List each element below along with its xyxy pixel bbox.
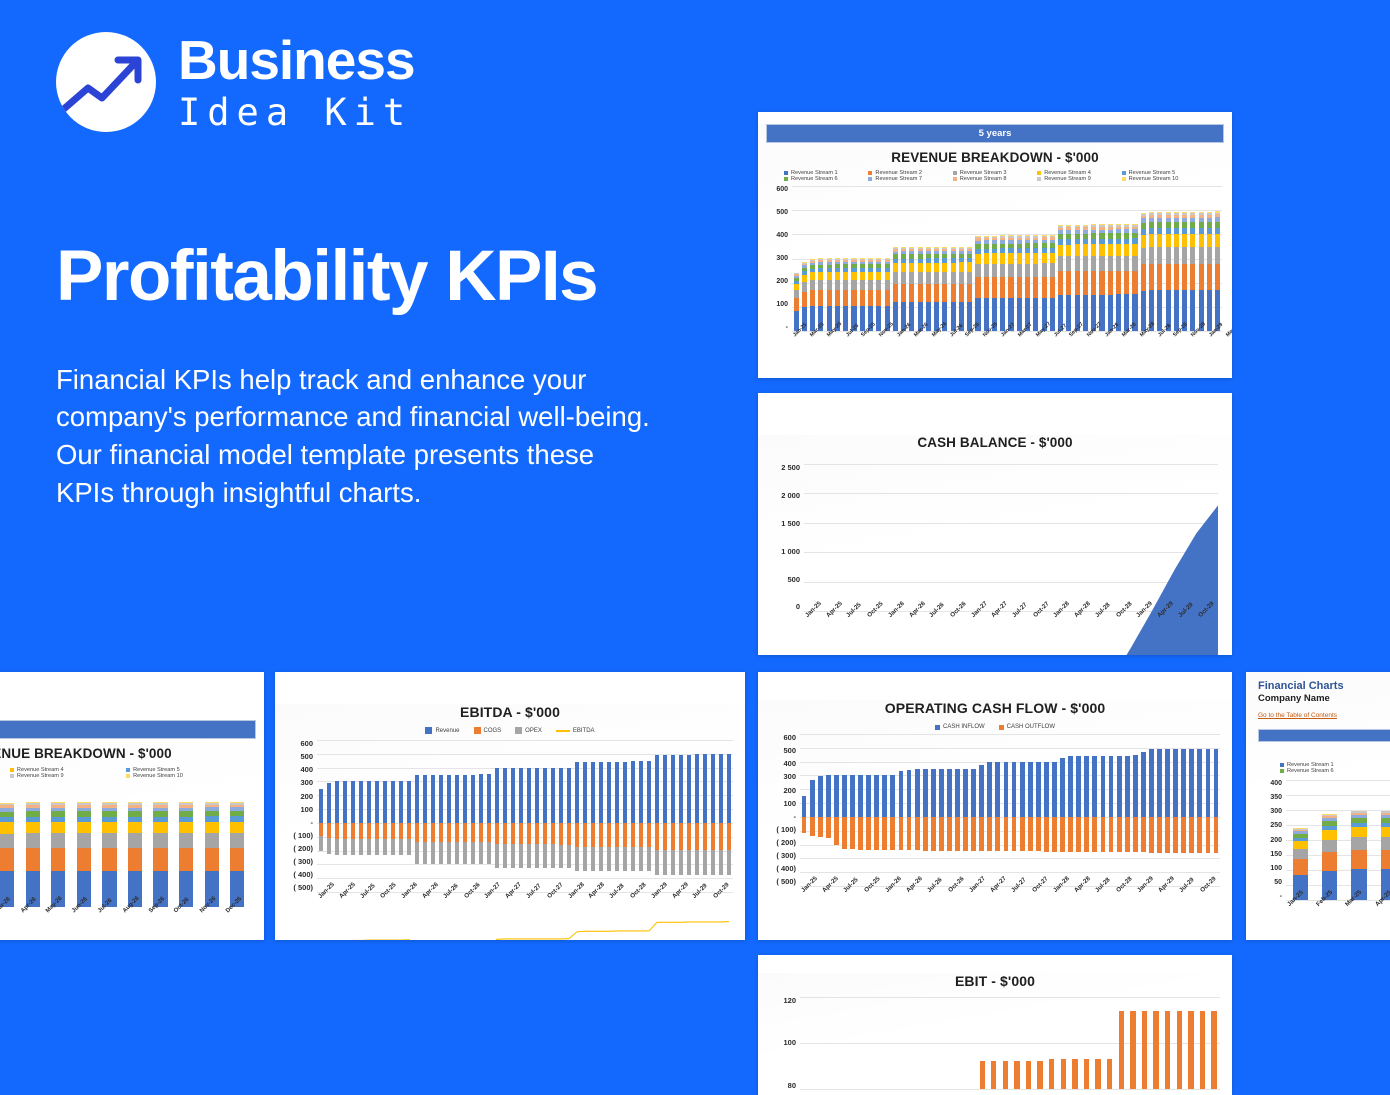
bar-segment <box>1083 271 1088 295</box>
bar-segment <box>835 290 840 306</box>
bar-column <box>225 789 251 907</box>
bar-segment <box>1000 253 1005 264</box>
bar-column <box>1046 997 1058 1089</box>
hero-section: Business Idea Kit Profitability KPIs Fin… <box>56 32 716 512</box>
bar-column <box>945 734 953 886</box>
bar-segment-positive <box>1149 749 1154 817</box>
y-tick-label: 500 <box>776 209 788 216</box>
bar-column <box>1042 734 1050 886</box>
bar-segment <box>26 833 40 848</box>
bar-column <box>1081 997 1093 1089</box>
y-tick-label: 200 <box>300 793 313 801</box>
y-tick-label: ( 200) <box>776 839 796 847</box>
bar-column <box>1099 734 1107 886</box>
bar-column <box>808 734 816 886</box>
bar-column <box>1050 734 1058 886</box>
bar-segment-positive <box>915 769 920 817</box>
bar-segment <box>1033 298 1038 331</box>
bar-segment-positive <box>1076 756 1081 817</box>
bar-segment-positive <box>1214 749 1219 817</box>
bar-segment <box>205 833 219 848</box>
bar-segment-positive <box>1028 762 1033 817</box>
bar-segment-negative <box>1012 817 1017 851</box>
bar-column <box>148 789 174 907</box>
bar-segment-positive <box>939 769 944 817</box>
bar-segment-negative <box>818 817 823 837</box>
bar-column <box>974 186 982 331</box>
bar-segment <box>1050 277 1055 298</box>
bar-segment <box>959 272 964 284</box>
bar-column <box>966 186 974 331</box>
bar-column <box>824 734 832 886</box>
bar-segment <box>1066 271 1071 294</box>
y-tick-label: 0 <box>796 603 800 611</box>
y-tick-label: 300 <box>783 773 796 781</box>
chart-title-operating-cash-flow: OPERATING CASH FLOW - $'000 <box>758 700 1232 716</box>
bar-segment <box>1190 264 1195 290</box>
bar-segment <box>1124 256 1129 271</box>
bar-column <box>889 734 897 886</box>
legend-label: Revenue Stream 9 <box>17 773 64 779</box>
legend-item: Revenue Stream 6 <box>1280 768 1390 774</box>
bar-segment <box>1182 264 1187 290</box>
legend-swatch <box>1122 177 1126 181</box>
bar-column <box>1196 734 1204 886</box>
x-axis: Jan-25Feb-25Mar-25Apr-25May-25Jun-25 <box>1286 903 1390 910</box>
bar-segment-positive <box>1084 756 1089 817</box>
bar-column <box>916 186 924 331</box>
bar-segment-negative <box>907 817 912 851</box>
y-tick-label: 400 <box>1270 780 1282 787</box>
bar-segment <box>102 822 116 834</box>
bar-column <box>832 734 840 886</box>
bar-segment-positive <box>923 769 928 817</box>
bar-segment <box>851 290 856 306</box>
bar-column <box>842 186 850 331</box>
bar-segment <box>1025 277 1030 298</box>
legend-item: Revenue Stream 6 <box>784 176 868 182</box>
y-tick-label: ( 300) <box>776 852 796 860</box>
bar-segment-negative <box>1125 817 1130 852</box>
bar-segment-negative <box>1117 817 1122 852</box>
bar-segment-positive <box>1189 749 1194 817</box>
bar-column <box>122 789 148 907</box>
bar-segment <box>934 272 939 284</box>
bar-column <box>1123 734 1131 886</box>
chart-title-cash-balance: CASH BALANCE - $'000 <box>758 435 1232 450</box>
bar-column <box>1139 734 1147 886</box>
bar-segment <box>860 280 865 290</box>
bar-segment <box>1083 256 1088 271</box>
bar-segment <box>876 306 881 331</box>
y-tick-label: ( 400) <box>293 871 313 879</box>
bar-column <box>0 789 20 907</box>
y-tick-label: 100 <box>783 800 796 808</box>
bar-segment-negative <box>979 817 984 851</box>
bar-segment-positive <box>890 775 895 817</box>
bar-segment-negative <box>939 817 944 851</box>
bar-segment <box>102 833 116 848</box>
bar-column <box>45 789 71 907</box>
bar-segment <box>818 290 823 306</box>
bar-segment-positive <box>874 775 879 817</box>
bar-segment <box>1050 263 1055 277</box>
hero-description: Financial KPIs help track and enhance yo… <box>56 361 656 513</box>
legend-swatch <box>953 171 957 175</box>
bar-column <box>937 734 945 886</box>
bar-segment <box>876 280 881 290</box>
bar-segment-negative <box>1109 817 1114 852</box>
bar-column <box>1058 997 1070 1089</box>
bar-segment-positive <box>1165 749 1170 817</box>
bar-segment <box>1132 256 1137 271</box>
chart-card-financial-charts-panel[interactable]: Financial Charts Company Name Go to the … <box>1246 672 1390 940</box>
x-axis: Jan-25Mar-25May-25Jul-25Sep-25Nov-25Jan-… <box>792 334 1222 340</box>
bar-column <box>929 734 937 886</box>
legend-label: COGS <box>484 728 502 734</box>
bar-segment-negative <box>1060 817 1065 852</box>
legend-swatch <box>425 727 432 734</box>
bar-segment <box>1322 830 1337 840</box>
bar-segment <box>967 262 972 271</box>
legend-label: Revenue Stream 7 <box>875 176 922 182</box>
period-band-24-months: 24 months <box>0 720 256 739</box>
bar-segment <box>1026 1061 1031 1089</box>
legend-swatch <box>474 727 481 734</box>
bar-segment <box>975 277 980 298</box>
bar-segment <box>1095 1059 1100 1089</box>
bar-column <box>1116 997 1128 1089</box>
bar-segment <box>980 1061 985 1089</box>
legend-swatch <box>953 177 957 181</box>
bar-column <box>1032 186 1040 331</box>
bar-segment <box>1188 1011 1193 1089</box>
bar-segment <box>991 1061 996 1089</box>
bar-segment <box>1091 271 1096 295</box>
chart-card-revenue-breakdown-24m[interactable]: 24 months REVENUE BREAKDOWN - $'000 Reve… <box>0 672 264 940</box>
bar-column <box>1083 734 1091 886</box>
bar-column <box>957 186 965 331</box>
bar-segment <box>153 833 167 848</box>
y-tick-label: ( 400) <box>776 865 796 873</box>
bar-segment <box>1141 235 1146 248</box>
bar-column <box>1172 186 1180 331</box>
y-tick-label: 100 <box>776 301 788 308</box>
bar-segment-positive <box>1101 756 1106 817</box>
bar-segment <box>1149 247 1154 264</box>
bar-column <box>1212 734 1220 886</box>
bar-column <box>1131 734 1139 886</box>
bar-segment <box>1157 290 1162 331</box>
bar-segment <box>901 284 906 303</box>
bar-column <box>857 734 865 886</box>
bar-segment <box>1174 264 1179 290</box>
y-axis: 40035030025020015010050- <box>1246 780 1282 900</box>
bar-segment-negative <box>1052 817 1057 852</box>
bar-segment <box>926 272 931 284</box>
bar-segment <box>1017 298 1022 331</box>
bar-segment <box>1058 271 1063 294</box>
bar-column <box>1214 186 1222 331</box>
bar-column <box>1188 734 1196 886</box>
chart-card-cash-balance[interactable]: CASH BALANCE - $'000 2 5002 0001 5001 00… <box>758 393 1232 655</box>
y-tick-label: 200 <box>783 787 796 795</box>
brand-subtitle: Idea Kit <box>178 94 415 131</box>
bar-segment <box>1083 244 1088 256</box>
bar-segment-positive <box>1197 749 1202 817</box>
bar-segment <box>802 282 807 292</box>
bar-segment <box>1351 837 1366 850</box>
bar-segment <box>1207 290 1212 331</box>
bar-segment <box>1211 1011 1216 1089</box>
plot-area-cash-balance: 2 5002 0001 5001 0005000Jan-25Apr-25Jul-… <box>804 464 1218 611</box>
bar-segment <box>992 277 997 298</box>
bar-segment <box>802 275 807 283</box>
bar-segment <box>1153 1011 1158 1089</box>
y-tick-label: ( 100) <box>776 826 796 834</box>
bar-column <box>1090 186 1098 331</box>
bar-segment <box>851 280 856 290</box>
bar-series <box>792 186 1222 331</box>
bar-column <box>1205 186 1213 331</box>
bar-segment-positive <box>834 775 839 817</box>
y-tick-label: 2 500 <box>781 464 800 472</box>
bar-segment <box>1003 1061 1008 1089</box>
bar-column <box>1059 734 1067 886</box>
bar-segment <box>810 290 815 306</box>
chart-card-revenue-breakdown-5y[interactable]: 5 years REVENUE BREAKDOWN - $'000 Revenu… <box>758 112 1232 378</box>
bar-column <box>1011 997 1023 1089</box>
bar-segment-negative <box>1092 817 1097 852</box>
bar-column <box>1114 186 1122 331</box>
bar-column <box>1147 734 1155 886</box>
bar-segment <box>1141 248 1146 265</box>
bar-segment <box>827 280 832 290</box>
bar-segment <box>934 284 939 303</box>
bar-segment <box>1149 264 1154 290</box>
bar-segment-negative <box>995 817 1000 851</box>
bar-segment <box>835 280 840 290</box>
bar-segment-positive <box>963 769 968 817</box>
page-title: Profitability KPIs <box>56 240 716 315</box>
y-tick-label: 200 <box>776 278 788 285</box>
bar-segment <box>1072 1059 1077 1089</box>
bar-segment-negative <box>971 817 976 851</box>
y-axis: 2 5002 0001 5001 0005000 <box>764 464 800 611</box>
bar-column <box>809 186 817 331</box>
bar-column <box>199 789 225 907</box>
bar-column <box>800 734 808 886</box>
bar-column <box>1065 186 1073 331</box>
area-series <box>804 464 1218 655</box>
bar-column <box>1197 997 1209 1089</box>
bar-segment <box>230 822 244 834</box>
plot-area-revenue-breakdown: 600500400300200100-Jan-25Mar-25May-25Jul… <box>792 186 1222 331</box>
bar-segment-positive <box>1109 756 1114 817</box>
bar-column <box>953 734 961 886</box>
bar-segment-negative <box>1173 817 1178 853</box>
legend-label: EBITDA <box>573 728 595 734</box>
bar-segment <box>1108 244 1113 256</box>
bar-segment <box>835 272 840 280</box>
bar-column <box>1344 780 1373 900</box>
bar-segment-negative <box>810 817 815 836</box>
bar-column <box>1002 734 1010 886</box>
bar-segment <box>992 253 997 264</box>
bar-segment-negative <box>826 817 831 838</box>
legend-label: Revenue Stream 9 <box>1044 176 1091 182</box>
bar-segment <box>951 263 956 272</box>
bar-segment <box>909 284 914 303</box>
bar-column <box>1073 186 1081 331</box>
bar-segment-negative <box>802 817 807 833</box>
bar-column <box>1023 997 1035 1089</box>
bar-column <box>1081 186 1089 331</box>
bar-segment-positive <box>882 775 887 817</box>
bar-segment-negative <box>1165 817 1170 853</box>
bar-column <box>858 186 866 331</box>
bar-column <box>1204 734 1212 886</box>
y-tick-label: 500 <box>300 753 313 761</box>
bar-column <box>1185 997 1197 1089</box>
bar-segment <box>1119 1011 1124 1089</box>
bar-segment <box>1099 256 1104 271</box>
bar-column <box>1040 186 1048 331</box>
bar-segment-positive <box>866 775 871 817</box>
bar-column <box>1208 997 1220 1089</box>
x-tick-label: Mar-29 <box>1225 322 1232 339</box>
bar-column <box>1315 780 1344 900</box>
bar-segment <box>1042 263 1047 277</box>
bar-segment <box>1351 827 1366 837</box>
bar-column <box>897 734 905 886</box>
y-tick-label: 500 <box>787 576 800 584</box>
legend-item: Revenue Stream 9 <box>10 773 126 779</box>
bar-segment <box>1190 234 1195 247</box>
bar-column <box>976 997 988 1089</box>
bar-segment-negative <box>1076 817 1081 852</box>
bar-column <box>891 186 899 331</box>
bar-segment-positive <box>987 762 992 817</box>
legend-swatch <box>126 774 130 778</box>
y-axis: 600500400300200100-( 100)( 200)( 300)( 4… <box>760 734 796 886</box>
bar-segment <box>942 272 947 284</box>
legend-label: Revenue Stream 6 <box>791 176 838 182</box>
bar-segment-positive <box>931 769 936 817</box>
bar-segment <box>1149 234 1154 247</box>
bar-segment <box>942 284 947 303</box>
bar-segment <box>77 833 91 848</box>
y-tick-label: 350 <box>1270 794 1282 801</box>
bar-column <box>873 734 881 886</box>
legend-swatch <box>1037 171 1041 175</box>
bar-segment <box>1049 1059 1054 1089</box>
bar-segment-positive <box>802 796 807 816</box>
bar-segment-positive <box>1117 756 1122 817</box>
chart-card-ebitda[interactable]: EBITDA - $'000 RevenueCOGSOPEXEBITDA 600… <box>275 672 745 940</box>
y-axis: 12010080 <box>760 997 796 1089</box>
bar-segment <box>885 272 890 280</box>
legend-swatch <box>868 177 872 181</box>
bar-segment <box>802 292 807 307</box>
bar-segment-negative <box>931 817 936 851</box>
bar-segment-positive <box>1141 752 1146 817</box>
bar-segment <box>1141 291 1146 332</box>
y-tick-label: 400 <box>300 766 313 774</box>
legend-swatch <box>1280 763 1284 767</box>
bar-column <box>881 734 889 886</box>
bar-segment-positive <box>1133 755 1138 816</box>
bar-segment-negative <box>1141 817 1146 853</box>
bar-segment-positive <box>955 769 960 817</box>
chart-card-ebit[interactable]: EBIT - $'000 12010080 <box>758 955 1232 1095</box>
bar-segment <box>794 290 799 298</box>
bar-segment <box>1182 247 1187 264</box>
y-tick-label: 300 <box>776 255 788 262</box>
bar-column <box>1139 186 1147 331</box>
bar-column <box>865 734 873 886</box>
bar-segment-positive <box>818 776 823 817</box>
bar-column <box>1115 734 1123 886</box>
bar-segment-positive <box>858 775 863 817</box>
y-tick-label: 400 <box>783 760 796 768</box>
bar-segment <box>1000 264 1005 277</box>
legend-swatch <box>1280 769 1284 773</box>
bar-segment <box>1141 264 1146 290</box>
bar-segment-positive <box>842 775 847 817</box>
bar-column <box>988 997 1000 1089</box>
bar-segment-negative <box>1020 817 1025 852</box>
bar-series <box>0 789 250 907</box>
bar-column <box>71 789 97 907</box>
bar-column <box>816 734 824 886</box>
bar-column <box>962 734 970 886</box>
bar-segment <box>967 272 972 284</box>
chart-title-revenue-breakdown: REVENUE BREAKDOWN - $'000 <box>758 150 1232 165</box>
bar-segment-positive <box>826 775 831 817</box>
bar-segment <box>1190 290 1195 331</box>
y-tick-label: 100 <box>300 806 313 814</box>
table-of-contents-link[interactable]: Go to the Table of Contents <box>1258 712 1337 719</box>
chart-card-operating-cash-flow[interactable]: OPERATING CASH FLOW - $'000 CASH INFLOWC… <box>758 672 1232 940</box>
company-name: Company Name <box>1258 693 1390 704</box>
chart-title-revenue-breakdown-24m: REVENUE BREAKDOWN - $'000 <box>0 746 264 761</box>
bar-column <box>20 789 46 907</box>
bar-column <box>982 186 990 331</box>
bar-column <box>1197 186 1205 331</box>
bar-column <box>994 734 1002 886</box>
bar-column <box>1189 186 1197 331</box>
bar-column <box>1127 997 1139 1089</box>
bar-segment <box>1381 850 1390 870</box>
bar-column <box>1018 734 1026 886</box>
bar-segment <box>1017 253 1022 264</box>
bar-column <box>1034 997 1046 1089</box>
bar-column <box>949 186 957 331</box>
legend-item: Revenue Stream 7 <box>868 176 952 182</box>
bar-segment <box>1000 277 1005 298</box>
bar-segment <box>1008 253 1013 264</box>
bar-segment <box>51 833 65 848</box>
bar-segment <box>1091 244 1096 256</box>
y-axis: 600500400300200100- <box>758 186 788 331</box>
legend-item: Revenue Stream 10 <box>1122 176 1206 182</box>
legend-item: EBITDA <box>556 727 595 734</box>
bar-column <box>899 186 907 331</box>
y-tick-label: ( 500) <box>293 884 313 892</box>
bar-column <box>1057 186 1065 331</box>
bar-segment <box>959 262 964 271</box>
